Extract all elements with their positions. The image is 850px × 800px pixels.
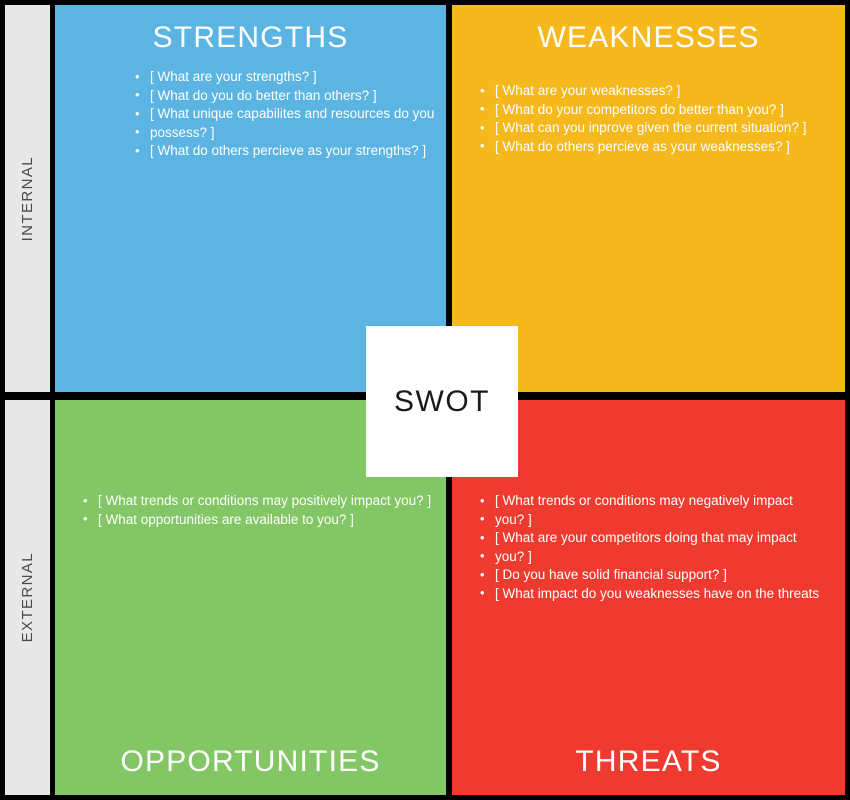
list-item: [ What impact do you weaknesses have on … [478,585,819,604]
list-item: [ What are your strengths? ] [133,68,434,87]
axis-label-internal: INTERNAL [5,5,50,392]
axis-label-external-text: EXTERNAL [19,552,36,642]
quadrant-strengths-list: [ What are your strengths? ] [ What do y… [133,68,434,161]
swot-diagram: INTERNAL EXTERNAL STRENGTHS [ What are y… [0,0,850,800]
axis-label-internal-text: INTERNAL [19,156,36,241]
swot-center-box: SWOT [366,326,518,477]
quadrant-threats-list: [ What trends or conditions may negative… [478,492,819,603]
list-item: [ What do others percieve as your streng… [133,142,434,161]
list-item: [ What trends or conditions may negative… [478,492,819,511]
list-item: [ What do others percieve as your weakne… [478,138,806,157]
list-item: [ Do you have solid financial support? ] [478,566,819,585]
quadrant-threats-title: THREATS [452,745,845,779]
list-item: you? ] [478,511,819,530]
list-item: [ What are your weaknesses? ] [478,82,806,101]
list-item: [ What can you inprove given the current… [478,119,806,138]
list-item: [ What opportunities are available to yo… [81,511,431,530]
quadrant-strengths-title: STRENGTHS [55,21,446,55]
list-item: you? ] [478,548,819,567]
swot-center-label: SWOT [394,385,490,419]
list-item: [ What do your competitors do better tha… [478,101,806,120]
list-item: [ What are your competitors doing that m… [478,529,819,548]
axis-label-external: EXTERNAL [5,400,50,795]
quadrant-weaknesses-title: WEAKNESSES [452,21,845,55]
quadrant-weaknesses-list: [ What are your weaknesses? ] [ What do … [478,82,806,156]
list-item: [ What trends or conditions may positive… [81,492,431,511]
list-item: [ What do you do better than others? ] [133,87,434,106]
quadrant-opportunities-list: [ What trends or conditions may positive… [81,492,431,529]
list-item: [ What unique capabilites and resources … [133,105,434,124]
list-item: possess? ] [133,124,434,143]
quadrant-opportunities-title: OPPORTUNITIES [55,745,446,779]
